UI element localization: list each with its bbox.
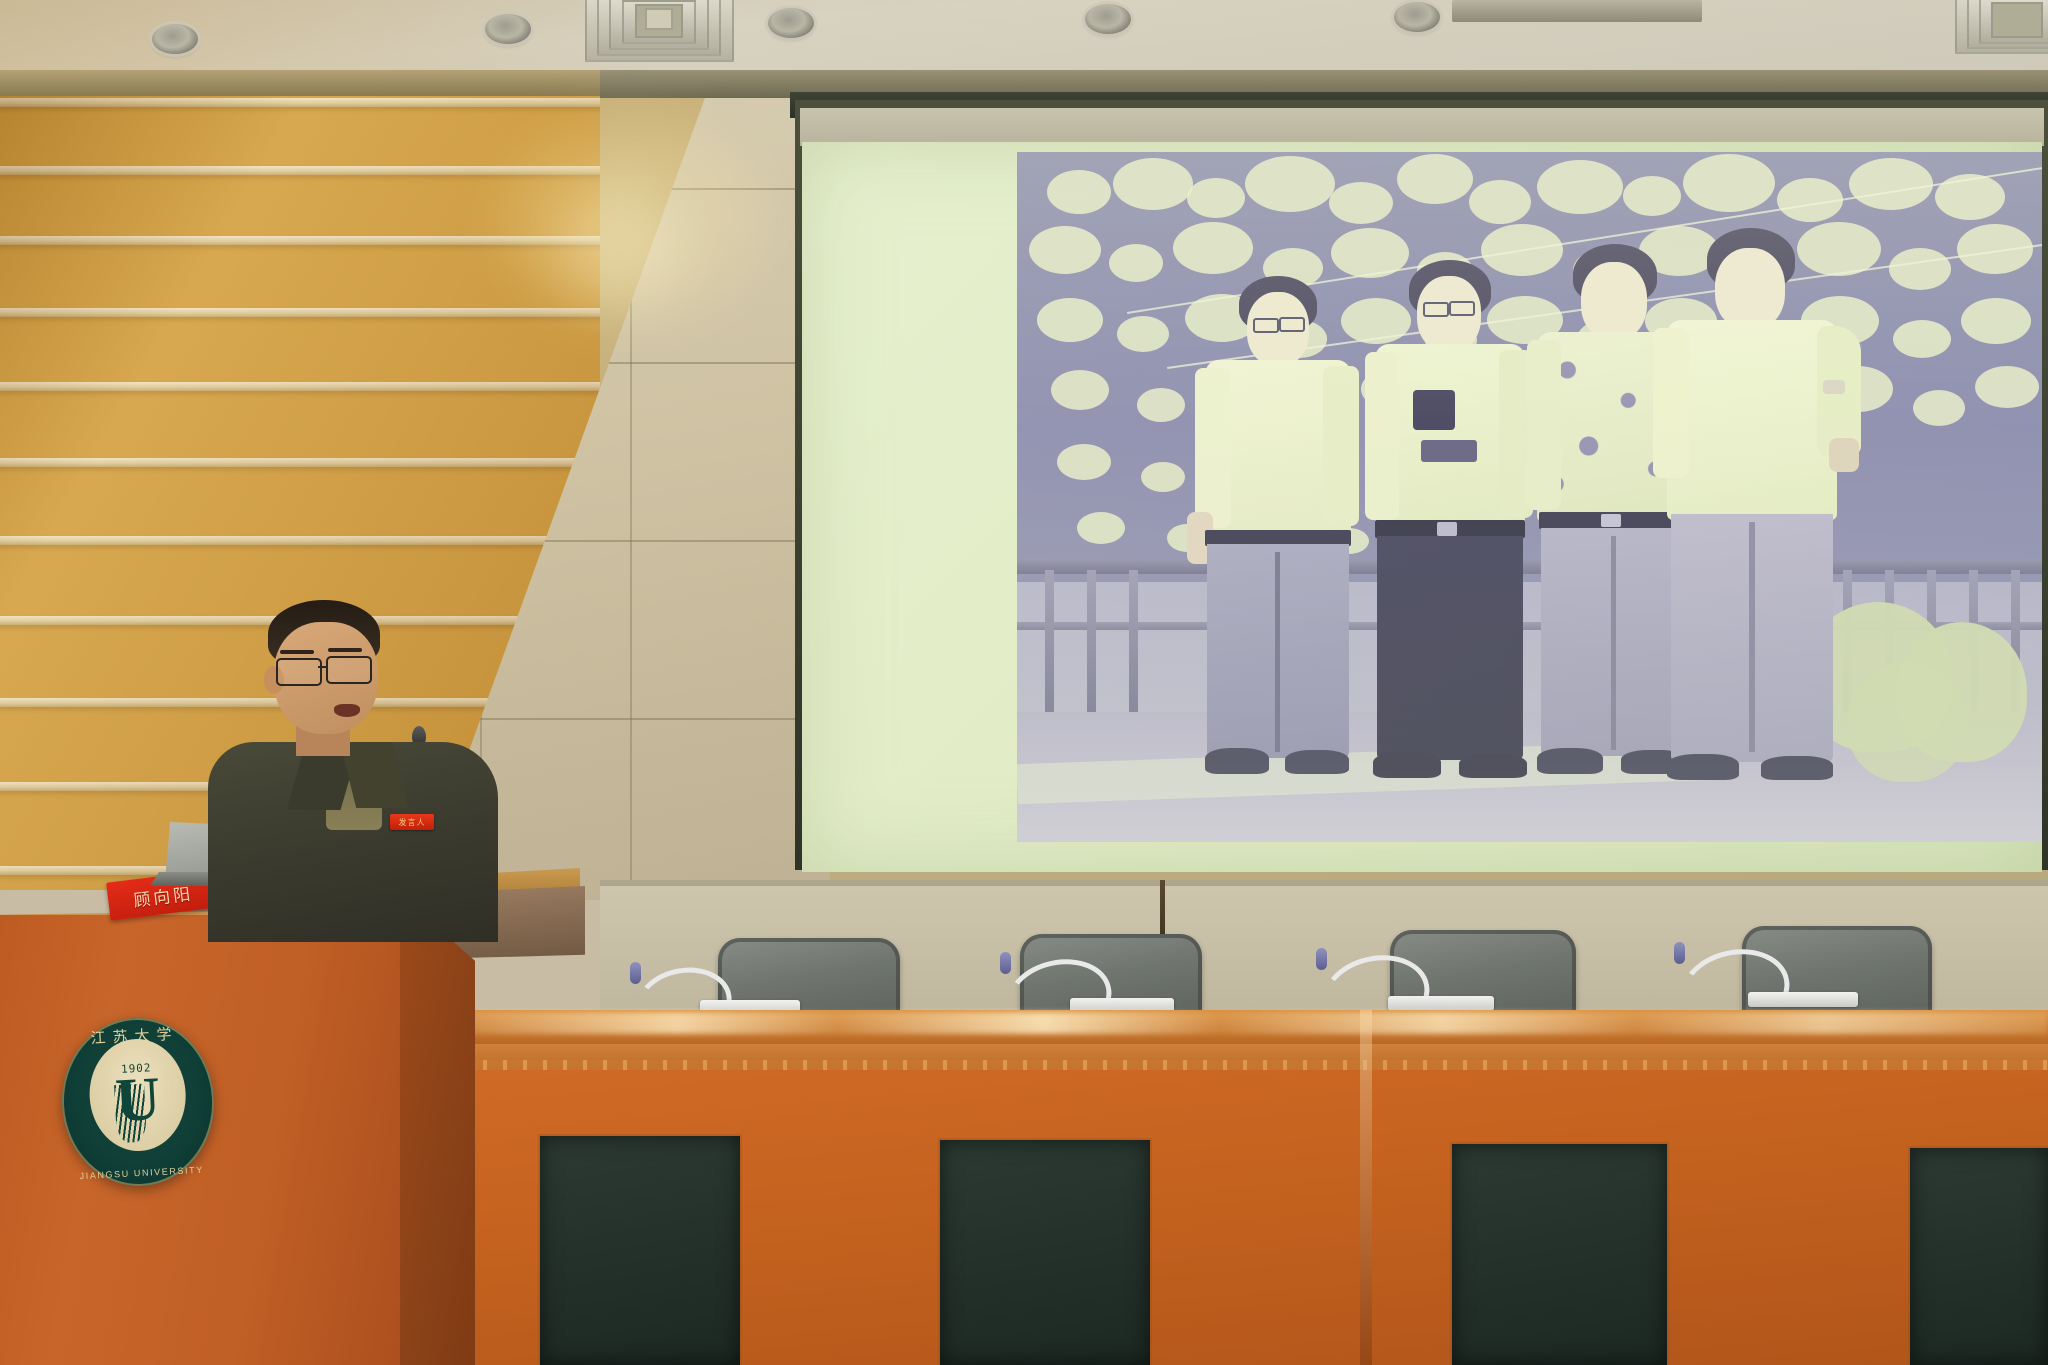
speaker-eyeglass-right	[326, 656, 372, 684]
ceiling-downlight-4	[1085, 4, 1131, 34]
ceiling-air-diffuser-right	[1955, 0, 2048, 62]
panel-microphone-head-4	[1674, 942, 1685, 964]
ceiling-vent-slot	[1452, 0, 1702, 22]
panel-microphone-base-4[interactable]	[1748, 992, 1858, 1007]
podium-side	[400, 895, 475, 1365]
ceiling-downlight-5	[1394, 2, 1440, 32]
ceiling-downlight-1	[152, 24, 198, 54]
ceiling-soffit-left	[0, 70, 640, 96]
speaker-eyebrow-right	[328, 648, 362, 652]
desk-inset-panel-4	[1910, 1148, 2048, 1365]
speaker-eyeglass-left	[276, 658, 322, 686]
wall-light-spill-hot	[560, 180, 680, 300]
speaker-person: 发言人	[230, 600, 470, 930]
speaker-eyebrow-left	[280, 650, 314, 654]
desk-inset-panel-3	[1452, 1144, 1667, 1365]
ceiling-air-diffuser	[585, 0, 730, 62]
speaker-lapel-badge-text: 发言人	[399, 817, 426, 828]
projected-photograph	[1017, 152, 2042, 842]
ceiling-downlight-2	[485, 14, 531, 44]
panel-desk-highlight	[455, 1012, 2048, 1034]
podium	[0, 915, 440, 1365]
panel-microphone-head-3	[1316, 948, 1327, 970]
speaker-lapel-badge: 发言人	[390, 814, 434, 830]
desk-inset-panel-2	[940, 1140, 1150, 1365]
panel-microphone-head-2	[1000, 952, 1011, 974]
crest-monogram: U	[114, 1068, 162, 1132]
ceiling-downlight-3	[768, 8, 814, 38]
speaker-eyeglass-bridge	[318, 666, 328, 668]
projection-screen[interactable]	[802, 142, 2042, 872]
desk-inset-panel-1	[540, 1136, 740, 1365]
ceiling-shading	[0, 0, 2048, 78]
speaker-mouth	[334, 704, 360, 717]
crest-inner-disc: 1902 U	[87, 1037, 189, 1154]
desk-section-seam	[1360, 1010, 1372, 1365]
panel-wall-shadow	[600, 880, 2048, 886]
projection-screen-header-bar	[800, 108, 2044, 146]
panel-microphone-base-3[interactable]	[1388, 996, 1494, 1011]
panel-microphone-head-1	[630, 962, 641, 984]
lecture-hall-photo: 顾向阳 江苏大学 1902 U JIANGSU UNIVERSITY 发言人	[0, 0, 2048, 1365]
